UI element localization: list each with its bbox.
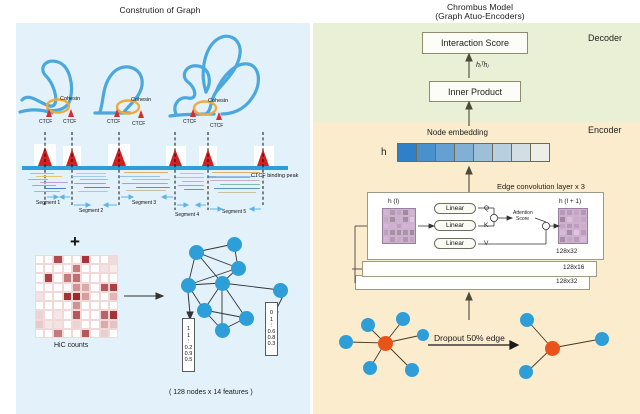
hic-cell bbox=[63, 301, 72, 310]
hic-cell bbox=[109, 310, 118, 319]
dropout-node bbox=[405, 363, 419, 377]
hic-cell bbox=[109, 320, 118, 329]
dim-box-outer bbox=[355, 275, 590, 290]
hic-cell bbox=[90, 255, 99, 264]
graph-node bbox=[273, 283, 288, 298]
hic-cell bbox=[100, 283, 109, 292]
hic-cell bbox=[90, 310, 99, 319]
matrix-cell bbox=[409, 223, 415, 230]
hic-cell bbox=[63, 283, 72, 292]
matrix-cell bbox=[580, 223, 587, 230]
hic-cell bbox=[44, 255, 53, 264]
hic-cell bbox=[44, 329, 53, 338]
hic-cell bbox=[90, 329, 99, 338]
hic-cell bbox=[35, 329, 44, 338]
hic-cell bbox=[72, 255, 81, 264]
feature-vector-left: 11⋮0.20.90.5 bbox=[182, 318, 195, 372]
hic-cell bbox=[44, 283, 53, 292]
dropout-node-after bbox=[519, 365, 533, 379]
matrix-cell bbox=[566, 209, 573, 216]
hic-cell bbox=[35, 320, 44, 329]
dim-label-middle: 128x16 bbox=[563, 264, 584, 271]
matrix-cell bbox=[580, 229, 587, 236]
hic-cell bbox=[81, 301, 90, 310]
embedding-cell bbox=[531, 144, 549, 161]
matrix-cell bbox=[559, 223, 566, 230]
segment-label-5: Segment 5 bbox=[222, 209, 246, 215]
interaction-score-box[interactable]: Interaction Score bbox=[422, 32, 528, 54]
hic-cell bbox=[109, 292, 118, 301]
hic-cell bbox=[63, 273, 72, 282]
feature-value: 0.5 bbox=[185, 357, 193, 363]
embedding-cell bbox=[398, 144, 417, 161]
hic-cell bbox=[81, 320, 90, 329]
hic-cell bbox=[109, 301, 118, 310]
cohesin-label-2: Cohesin bbox=[131, 97, 151, 103]
segment-label-2: Segment 2 bbox=[79, 208, 103, 214]
hic-cell bbox=[90, 292, 99, 301]
hic-cell bbox=[109, 264, 118, 273]
hic-cell bbox=[100, 320, 109, 329]
q-label: Q bbox=[484, 205, 489, 212]
matrix-cell bbox=[580, 216, 587, 223]
hic-cell bbox=[35, 264, 44, 273]
hic-cell bbox=[63, 320, 72, 329]
hic-cell bbox=[81, 273, 90, 282]
segment-label-3: Segment 3 bbox=[132, 200, 156, 206]
hic-cell bbox=[53, 255, 62, 264]
segment-label-1: Segment 1 bbox=[36, 200, 60, 206]
h-input-matrix bbox=[382, 208, 416, 244]
matrix-cell bbox=[573, 216, 580, 223]
hic-cell bbox=[72, 292, 81, 301]
hic-cell bbox=[63, 329, 72, 338]
graph-caption: ( 128 nodes x 14 features ) bbox=[169, 389, 253, 396]
matrix-cell bbox=[559, 216, 566, 223]
ctcf-label-3: CTCF bbox=[107, 119, 120, 125]
embedding-cell bbox=[474, 144, 493, 161]
hic-cell bbox=[109, 273, 118, 282]
hic-cell bbox=[53, 329, 62, 338]
matrix-cell bbox=[559, 229, 566, 236]
graph-node bbox=[181, 278, 196, 293]
hic-cell bbox=[90, 301, 99, 310]
hic-cell bbox=[53, 320, 62, 329]
graph-node bbox=[189, 245, 204, 260]
linear-box-q[interactable]: Linear bbox=[434, 203, 476, 214]
hic-cell bbox=[81, 255, 90, 264]
dropout-hub-node-after bbox=[545, 341, 560, 356]
matrix-cell bbox=[409, 209, 415, 216]
hic-cell bbox=[72, 264, 81, 273]
graph-node bbox=[231, 261, 246, 276]
hic-cell bbox=[100, 255, 109, 264]
hic-cell bbox=[100, 310, 109, 319]
node-embedding-label: Node embedding bbox=[427, 128, 488, 137]
hic-cell bbox=[53, 310, 62, 319]
hic-cell bbox=[72, 329, 81, 338]
hic-cell bbox=[81, 264, 90, 273]
embedding-cell bbox=[455, 144, 474, 161]
dropout-node-after bbox=[520, 313, 534, 327]
inner-product-box[interactable]: Inner Product bbox=[429, 81, 521, 102]
hic-cell bbox=[63, 292, 72, 301]
hic-cell bbox=[44, 301, 53, 310]
matrix-cell bbox=[566, 236, 573, 243]
h-output-label: h (l + 1) bbox=[559, 198, 581, 205]
hic-cell bbox=[63, 310, 72, 319]
feature-vector-right: 01⋮0.60.80.3 bbox=[265, 302, 278, 356]
hic-cell bbox=[35, 301, 44, 310]
hic-cell bbox=[63, 255, 72, 264]
hic-cell bbox=[109, 255, 118, 264]
k-label: K bbox=[484, 222, 488, 229]
node-embedding-bar bbox=[397, 143, 550, 162]
attention-score-label-line2: Score bbox=[516, 216, 529, 223]
hic-cell bbox=[81, 310, 90, 319]
hic-cell bbox=[35, 310, 44, 319]
embedding-cell bbox=[512, 144, 531, 161]
linear-box-v[interactable]: Linear bbox=[434, 238, 476, 249]
hic-cell bbox=[100, 301, 109, 310]
matrix-cell bbox=[409, 216, 415, 223]
hic-cell bbox=[53, 273, 62, 282]
hic-counts-label: HiC counts bbox=[54, 342, 88, 349]
hic-heatmap bbox=[35, 255, 118, 338]
ctcf-label-1: CTCF bbox=[39, 119, 52, 125]
ctcf-label-4: CTCF bbox=[132, 121, 145, 127]
hic-cell bbox=[44, 320, 53, 329]
matrix-cell bbox=[559, 236, 566, 243]
dropout-node bbox=[363, 361, 377, 375]
dropout-label: Dropout 50% edge bbox=[434, 333, 505, 343]
hic-cell bbox=[100, 292, 109, 301]
ctcf-binding-peak-label: CTCF binding peak bbox=[251, 173, 298, 179]
inner-product-formula: hᵢᵀhⱼ bbox=[476, 62, 489, 69]
hic-cell bbox=[81, 292, 90, 301]
ctcf-label-2: CTCF bbox=[63, 119, 76, 125]
graph-node bbox=[197, 303, 212, 318]
left-panel-title: Constrution of Graph bbox=[60, 5, 260, 15]
hic-cell bbox=[72, 310, 81, 319]
encoder-label: Encoder bbox=[588, 125, 622, 135]
plus-symbol: + bbox=[70, 233, 80, 250]
hic-cell bbox=[44, 273, 53, 282]
hic-cell bbox=[100, 329, 109, 338]
v-label: V bbox=[484, 240, 488, 247]
matrix-cell bbox=[566, 223, 573, 230]
edge-conv-label: Edge convolution layer x 3 bbox=[497, 182, 585, 191]
hic-cell bbox=[109, 283, 118, 292]
hic-cell bbox=[35, 273, 44, 282]
matrix-cell bbox=[580, 209, 587, 216]
cohesin-label-1: Cohesin bbox=[60, 96, 80, 102]
hic-cell bbox=[35, 292, 44, 301]
graph-node bbox=[215, 323, 230, 338]
matrix-cell bbox=[409, 229, 415, 236]
hic-cell bbox=[72, 273, 81, 282]
dim-box-middle bbox=[362, 261, 597, 277]
dropout-node bbox=[361, 318, 375, 332]
matrix-cell bbox=[580, 236, 587, 243]
hic-cell bbox=[53, 283, 62, 292]
hic-cell bbox=[90, 283, 99, 292]
ctcf-label-5: CTCF bbox=[183, 119, 196, 125]
dropout-node bbox=[417, 329, 429, 341]
hic-cell bbox=[63, 264, 72, 273]
matrix-cell bbox=[566, 216, 573, 223]
embedding-symbol: h bbox=[381, 147, 387, 158]
hic-cell bbox=[72, 301, 81, 310]
linear-box-k[interactable]: Linear bbox=[434, 220, 476, 231]
hic-cell bbox=[90, 264, 99, 273]
hic-cell bbox=[44, 310, 53, 319]
h-output-matrix bbox=[558, 208, 588, 244]
dim-label-outer: 128x32 bbox=[556, 278, 577, 285]
graph-node bbox=[239, 311, 254, 326]
embedding-cell bbox=[417, 144, 436, 161]
matrix-cell bbox=[409, 236, 415, 243]
hic-cell bbox=[72, 320, 81, 329]
hic-cell bbox=[90, 273, 99, 282]
dropout-hub-node-before bbox=[378, 336, 393, 351]
graph-node bbox=[215, 276, 230, 291]
hic-cell bbox=[90, 320, 99, 329]
graph-node bbox=[227, 237, 242, 252]
matrix-cell bbox=[573, 229, 580, 236]
dropout-node bbox=[339, 335, 353, 349]
hic-cell bbox=[35, 255, 44, 264]
hic-cell bbox=[109, 329, 118, 338]
decoder-label: Decoder bbox=[588, 33, 622, 43]
figure-root: Constrution of Graph Chrombus Model (Gra… bbox=[0, 0, 640, 414]
hic-cell bbox=[35, 283, 44, 292]
embedding-cell bbox=[436, 144, 455, 161]
dropout-node-after bbox=[595, 332, 609, 346]
hic-cell bbox=[53, 264, 62, 273]
hic-cell bbox=[53, 301, 62, 310]
embedding-cell bbox=[493, 144, 512, 161]
matrix-cell bbox=[559, 209, 566, 216]
hic-cell bbox=[81, 283, 90, 292]
hic-cell bbox=[72, 283, 81, 292]
hic-cell bbox=[53, 292, 62, 301]
hic-cell bbox=[100, 273, 109, 282]
feature-value: 0.3 bbox=[268, 341, 276, 347]
hic-cell bbox=[81, 329, 90, 338]
hic-cell bbox=[100, 264, 109, 273]
right-panel-title-line2: (Graph Atuo-Encoders) bbox=[400, 11, 560, 21]
cohesin-label-3: Cohesin bbox=[208, 98, 228, 104]
matrix-cell bbox=[573, 223, 580, 230]
ctcf-label-6: CTCF bbox=[210, 123, 223, 129]
dropout-node bbox=[396, 312, 410, 326]
matrix-cell bbox=[566, 229, 573, 236]
segment-label-4: Segment 4 bbox=[175, 212, 199, 218]
matrix-cell bbox=[573, 209, 580, 216]
dim-label-inner: 128x32 bbox=[556, 248, 577, 255]
h-input-label: h (l) bbox=[388, 198, 399, 205]
hic-cell bbox=[44, 264, 53, 273]
hic-cell bbox=[44, 292, 53, 301]
matrix-cell bbox=[573, 236, 580, 243]
